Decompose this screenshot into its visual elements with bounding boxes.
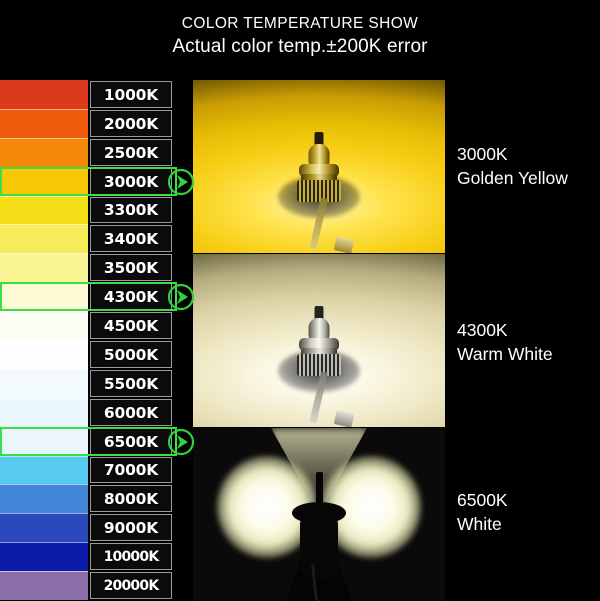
kelvin-label-text: 20000K — [104, 578, 178, 594]
kelvin-label-cell: 10000K — [88, 542, 193, 571]
color-swatch — [0, 369, 88, 398]
caption-color-name: White — [457, 512, 600, 536]
kelvin-label-cell: 5000K — [88, 340, 193, 369]
kelvin-label-cell: 9000K — [88, 513, 193, 542]
photo-4300k — [193, 253, 445, 427]
kelvin-scale: 1000K2000K2500K3000K3300K3400K3500K4300K… — [0, 80, 193, 600]
color-swatch — [0, 224, 88, 253]
color-swatch — [0, 282, 88, 311]
page-title: COLOR TEMPERATURE SHOW — [182, 14, 418, 34]
caption-6500k: 6500KWhite — [457, 488, 600, 536]
kelvin-label-text: 3300K — [104, 201, 177, 219]
caption-column: 3000KGolden Yellow4300KWarm White6500KWh… — [445, 80, 600, 600]
kelvin-label-text: 9000K — [104, 519, 177, 537]
kelvin-label-cell: 2000K — [88, 109, 193, 138]
kelvin-label-cell: 2500K — [88, 138, 193, 167]
kelvin-label-cell: 3400K — [88, 224, 193, 253]
color-swatch — [0, 427, 88, 456]
bulb-base — [297, 354, 341, 376]
swatch-divider — [0, 542, 88, 543]
kelvin-label-cell: 1000K — [88, 80, 193, 109]
caption-kelvin: 3000K — [457, 142, 600, 166]
kelvin-row-2500k: 2500K — [0, 138, 193, 167]
color-swatch — [0, 80, 88, 109]
swatch-divider — [0, 513, 88, 514]
swatch-divider — [0, 369, 88, 370]
caption-color-name: Golden Yellow — [457, 166, 600, 190]
bulb-stem — [316, 472, 323, 506]
kelvin-label-text: 6000K — [104, 404, 177, 422]
color-swatch — [0, 109, 88, 138]
play-arrow-icon — [167, 283, 195, 311]
play-arrow-icon — [167, 168, 195, 196]
bulb-neck — [309, 318, 330, 340]
kelvin-row-3500k: 3500K — [0, 253, 193, 282]
color-swatch — [0, 167, 88, 196]
kelvin-row-5500k: 5500K — [0, 369, 193, 398]
swatch-divider — [0, 571, 88, 572]
kelvin-row-6500k: 6500K — [0, 427, 193, 456]
page-subtitle: Actual color temp.±200K error — [172, 34, 427, 60]
swatch-divider — [0, 282, 88, 283]
header: COLOR TEMPERATURE SHOW Actual color temp… — [0, 0, 600, 78]
kelvin-row-9000k: 9000K — [0, 513, 193, 542]
kelvin-row-6000k: 6000K — [0, 398, 193, 427]
swatch-divider — [0, 138, 88, 139]
kelvin-row-3300k: 3300K — [0, 196, 193, 224]
kelvin-label-cell: 3300K — [88, 196, 193, 224]
kelvin-label-cell: 4500K — [88, 311, 193, 340]
kelvin-label-cell: 7000K — [88, 456, 193, 484]
caption-4300k: 4300KWarm White — [457, 318, 600, 366]
color-swatch — [0, 542, 88, 571]
swatch-divider — [0, 109, 88, 110]
color-swatch — [0, 571, 88, 600]
color-swatch — [0, 513, 88, 542]
kelvin-row-7000k: 7000K — [0, 456, 193, 484]
swatch-divider — [0, 398, 88, 399]
kelvin-row-2000k: 2000K — [0, 109, 193, 138]
bulb-connector — [334, 410, 355, 427]
photo-column — [193, 80, 445, 600]
caption-3000k: 3000KGolden Yellow — [457, 142, 600, 190]
swatch-divider — [0, 484, 88, 485]
kelvin-label-cell: 3500K — [88, 253, 193, 282]
kelvin-row-20000k: 20000K — [0, 571, 193, 600]
swatch-divider — [0, 253, 88, 254]
swatch-divider — [0, 456, 88, 457]
kelvin-row-3000k: 3000K — [0, 167, 193, 196]
caption-color-name: Warm White — [457, 342, 600, 366]
kelvin-row-8000k: 8000K — [0, 484, 193, 513]
kelvin-label-text: 2000K — [104, 115, 177, 133]
color-swatch — [0, 456, 88, 484]
swatch-divider — [0, 167, 88, 168]
kelvin-label-text: 3400K — [104, 230, 177, 248]
swatch-divider — [0, 224, 88, 225]
kelvin-row-10000k: 10000K — [0, 542, 193, 571]
kelvin-row-1000k: 1000K — [0, 80, 193, 109]
kelvin-label-text: 4500K — [104, 317, 177, 335]
kelvin-row-4500k: 4500K — [0, 311, 193, 340]
caption-kelvin: 6500K — [457, 488, 600, 512]
kelvin-label-text: 8000K — [104, 490, 177, 508]
kelvin-label-text: 5000K — [104, 346, 177, 364]
bulb-base — [297, 180, 341, 202]
kelvin-label-text: 10000K — [104, 549, 178, 565]
color-swatch — [0, 196, 88, 224]
kelvin-label-cell: 5500K — [88, 369, 193, 398]
color-swatch — [0, 340, 88, 369]
bulb-connector — [334, 236, 355, 253]
kelvin-row-4300k: 4300K — [0, 282, 193, 311]
kelvin-label-text: 7000K — [104, 461, 177, 479]
color-swatch — [0, 311, 88, 340]
kelvin-label-cell: 20000K — [88, 571, 193, 600]
color-swatch — [0, 253, 88, 282]
kelvin-label-text: 1000K — [104, 86, 177, 104]
photo-6500k — [193, 427, 445, 601]
caption-kelvin: 4300K — [457, 318, 600, 342]
color-temperature-chart: COLOR TEMPERATURE SHOW Actual color temp… — [0, 0, 600, 600]
color-swatch — [0, 138, 88, 167]
swatch-divider — [0, 196, 88, 197]
kelvin-label-text: 3500K — [104, 259, 177, 277]
swatch-divider — [0, 427, 88, 428]
swatch-divider — [0, 311, 88, 312]
swatch-divider — [0, 340, 88, 341]
photo-3000k — [193, 80, 445, 253]
kelvin-label-text: 5500K — [104, 375, 177, 393]
kelvin-row-5000k: 5000K — [0, 340, 193, 369]
play-arrow-icon — [167, 428, 195, 456]
kelvin-label-cell: 6000K — [88, 398, 193, 427]
kelvin-label-cell: 8000K — [88, 484, 193, 513]
kelvin-row-3400k: 3400K — [0, 224, 193, 253]
bulb-neck — [309, 144, 330, 166]
color-swatch — [0, 398, 88, 427]
kelvin-label-text: 2500K — [104, 144, 177, 162]
color-swatch — [0, 484, 88, 513]
